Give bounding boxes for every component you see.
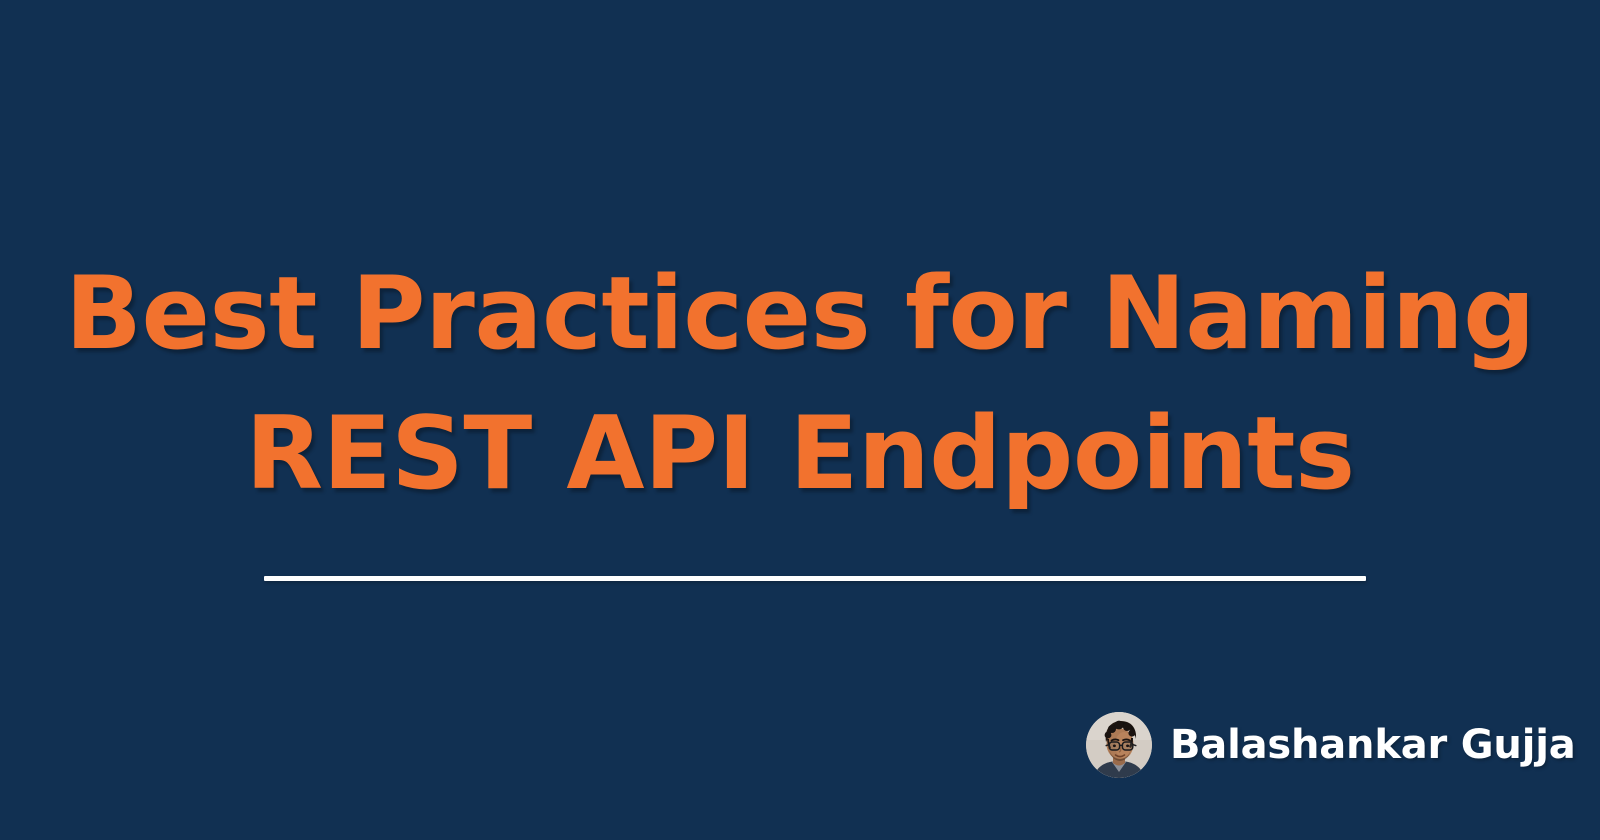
title-line-1: Best Practices for Naming: [0, 243, 1600, 383]
page-title: Best Practices for Naming REST API Endpo…: [0, 243, 1600, 523]
title-slide: Best Practices for Naming REST API Endpo…: [0, 0, 1600, 840]
avatar: [1086, 712, 1152, 778]
title-line-2: REST API Endpoints: [0, 383, 1600, 523]
author-signature: Balashankar Gujja: [1086, 712, 1576, 778]
title-divider: [264, 576, 1366, 581]
author-name: Balashankar Gujja: [1170, 722, 1576, 768]
